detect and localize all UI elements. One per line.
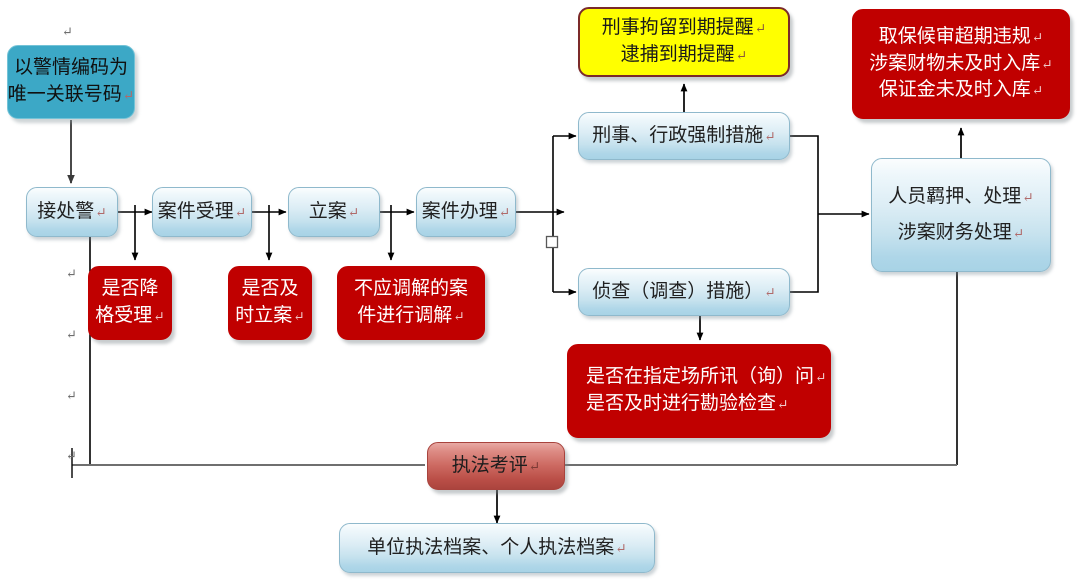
node-line: 件进行调解↵ — [357, 303, 464, 330]
paragraph-mark: ↵ — [755, 21, 766, 36]
paragraph-mark-left-3: ↵ — [66, 388, 77, 404]
node-line: 唯一关联号码↵ — [8, 82, 134, 109]
paragraph-mark: ↵ — [235, 205, 246, 220]
node-line: 是否及时进行勘验检查↵ — [586, 391, 788, 418]
paragraph-mark-top: ↵ — [62, 24, 73, 40]
investigation-measures-node[interactable]: 侦查（调查）措施）↵ — [578, 268, 790, 316]
paragraph-mark: ↵ — [529, 459, 540, 474]
node-line: 是否在指定场所讯（询）问↵ — [586, 364, 826, 391]
paragraph-mark: ↵ — [153, 309, 164, 324]
paragraph-mark: ↵ — [764, 285, 775, 300]
node-line: 侦查（调查）措施）↵ — [592, 279, 775, 306]
node-line: 时立案↵ — [235, 303, 304, 330]
paragraph-mark: ↵ — [293, 309, 304, 324]
paragraph-mark-left-1: ↵ — [66, 266, 77, 282]
node-line: 格受理↵ — [95, 303, 164, 330]
case-filing-node[interactable]: 立案↵ — [288, 187, 380, 237]
paragraph-mark-left-2: ↵ — [66, 327, 77, 343]
paragraph-mark: ↵ — [499, 205, 510, 220]
paragraph-mark: ↵ — [1022, 190, 1033, 205]
node-line: 刑事拘留到期提醒↵ — [602, 15, 766, 42]
paragraph-mark: ↵ — [1013, 226, 1024, 241]
node-line: 立案↵ — [309, 199, 359, 226]
node-line: 执法考评↵ — [452, 453, 540, 480]
node-line: 是否降 — [101, 276, 158, 303]
paragraph-mark: ↵ — [1032, 83, 1043, 98]
paragraph-mark: ↵ — [95, 205, 106, 220]
node-line: 保证金未及时入库↵ — [879, 77, 1043, 104]
flowchart-canvas: ↵ ↵ ↵ ↵ ↵ 以警情编码为 唯一关联号码↵ 接处警↵ 案件受理↵ 立案↵ … — [0, 0, 1079, 580]
paragraph-mark: ↵ — [123, 88, 134, 103]
enforcement-archives-node[interactable]: 单位执法档案、个人执法档案↵ — [339, 523, 655, 573]
paragraph-mark: ↵ — [764, 129, 775, 144]
interrogation-inspection-alert[interactable]: 是否在指定场所讯（询）问↵ 是否及时进行勘验检查↵ — [567, 344, 831, 438]
detention-expiry-reminder-alert[interactable]: 刑事拘留到期提醒↵ 逮捕到期提醒↵ — [578, 7, 790, 77]
node-line: 涉案财务处理↵ — [898, 215, 1024, 251]
paragraph-mark: ↵ — [815, 370, 826, 385]
paragraph-mark: ↵ — [1041, 57, 1052, 72]
node-line: 单位执法档案、个人执法档案↵ — [367, 535, 626, 562]
paragraph-mark: ↵ — [615, 541, 626, 556]
case-handling-node[interactable]: 案件办理↵ — [416, 187, 516, 237]
paragraph-mark-left-4: ↵ — [66, 448, 77, 464]
paragraph-mark: ↵ — [453, 309, 464, 324]
node-line: 不应调解的案 — [354, 276, 468, 303]
node-line: 逮捕到期提醒↵ — [621, 42, 747, 69]
node-line: 案件受理↵ — [158, 199, 246, 226]
improper-mediation-alert[interactable]: 不应调解的案 件进行调解↵ — [337, 266, 485, 340]
paragraph-mark: ↵ — [1032, 30, 1043, 45]
node-line: 取保候审超期违规↵ — [879, 24, 1043, 51]
paragraph-mark: ↵ — [348, 205, 359, 220]
node-line: 案件办理↵ — [422, 199, 510, 226]
paragraph-mark: ↵ — [777, 397, 788, 412]
node-line: 是否及 — [241, 276, 298, 303]
timely-filing-alert[interactable]: 是否及 时立案↵ — [228, 266, 312, 340]
custody-and-property-node[interactable]: 人员羁押、处理↵ 涉案财务处理↵ — [871, 158, 1051, 272]
node-line: 以警情编码为 — [14, 55, 128, 82]
case-acceptance-node[interactable]: 案件受理↵ — [152, 187, 252, 237]
paragraph-mark: ↵ — [736, 48, 747, 63]
node-line: 人员羁押、处理↵ — [888, 179, 1033, 215]
node-line: 接处警↵ — [37, 199, 106, 226]
downgrade-acceptance-alert[interactable]: 是否降 格受理↵ — [88, 266, 172, 340]
unique-code-node[interactable]: 以警情编码为 唯一关联号码↵ — [7, 45, 135, 119]
edge-merge-to-custody-property — [789, 136, 869, 292]
law-enforcement-review-node[interactable]: 执法考评↵ — [427, 442, 565, 490]
node-line: 涉案财物未及时入库↵ — [869, 51, 1052, 78]
bail-violation-alert[interactable]: 取保候审超期违规↵ 涉案财物未及时入库↵ 保证金未及时入库↵ — [852, 9, 1070, 119]
receive-alarm-node[interactable]: 接处警↵ — [26, 187, 118, 237]
edge-case-handling-to-branch — [516, 136, 564, 292]
connector-handle-square[interactable] — [547, 237, 558, 248]
compulsory-measures-node[interactable]: 刑事、行政强制措施↵ — [578, 112, 790, 160]
node-line: 刑事、行政强制措施↵ — [592, 123, 775, 150]
